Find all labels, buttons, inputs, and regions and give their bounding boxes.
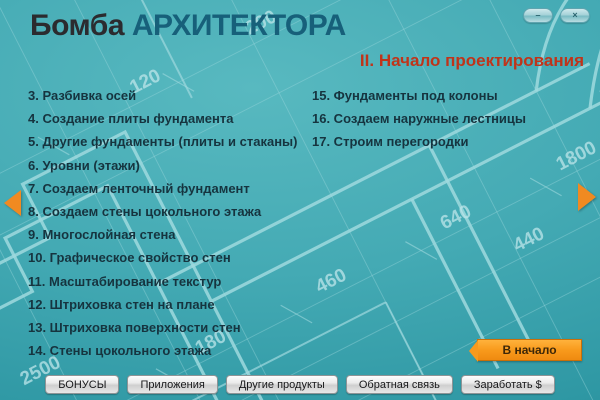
lesson-item-6[interactable]: 9. Многослойная стена [28,223,320,246]
bottom-button-3[interactable]: Обратная связь [346,375,453,394]
lesson-item-0[interactable]: 15. Фундаменты под колоны [312,84,592,107]
minimize-button[interactable]: – [523,8,553,23]
svg-text:640: 640 [437,201,475,234]
lesson-item-2[interactable]: 17. Строим перегородки [312,130,592,153]
lesson-item-1[interactable]: 16. Создаем наружные лестницы [312,107,592,130]
bottom-button-bar: БОНУСЫПриложенияДругие продуктыОбратная … [0,375,600,394]
lesson-item-3[interactable]: 6. Уровни (этажи) [28,154,320,177]
lesson-item-11[interactable]: 14. Стены цокольного этажа [28,339,320,362]
page-title: Бомба АРХИТЕКТОРА [30,9,346,43]
bottom-button-1[interactable]: Приложения [127,375,217,394]
triangle-right-icon[interactable] [578,183,596,211]
application-window: 180 460 640 1800 440 1290 3300 2500 120 … [0,0,600,400]
lesson-item-7[interactable]: 10. Графическое свойство стен [28,246,320,269]
triangle-left-icon[interactable] [4,190,21,216]
svg-text:1290: 1290 [596,68,600,106]
svg-text:440: 440 [510,223,548,256]
lesson-item-0[interactable]: 3. Разбивка осей [28,84,320,107]
titlebar: Бомба АРХИТЕКТОРА – × [0,0,600,48]
lesson-item-2[interactable]: 5. Другие фундаменты (плиты и стаканы) [28,130,320,153]
lesson-list-left: 3. Разбивка осей4. Создание плиты фундам… [28,84,320,362]
bottom-button-4[interactable]: Заработать $ [461,375,555,394]
lesson-item-9[interactable]: 12. Штриховка стен на плане [28,293,320,316]
lesson-item-5[interactable]: 8. Создаем стены цокольного этажа [28,200,320,223]
lesson-list-right: 15. Фундаменты под колоны16. Создаем нар… [312,84,592,154]
title-word-secondary: АРХИТЕКТОРА [132,9,346,42]
bottom-button-2[interactable]: Другие продукты [226,375,338,394]
section-subtitle: II. Начало проектирования [360,51,584,71]
bottom-button-0[interactable]: БОНУСЫ [45,375,119,394]
lesson-item-10[interactable]: 13. Штриховка поверхности стен [28,316,320,339]
lesson-item-4[interactable]: 7. Создаем ленточный фундамент [28,177,320,200]
close-button[interactable]: × [560,8,590,23]
lesson-item-8[interactable]: 11. Масштабирование текстур [28,270,320,293]
lesson-item-1[interactable]: 4. Создание плиты фундамента [28,107,320,130]
window-controls: – × [523,8,590,23]
go-to-start-button[interactable]: В начало [477,339,582,361]
title-word-primary: Бомба [30,9,124,42]
